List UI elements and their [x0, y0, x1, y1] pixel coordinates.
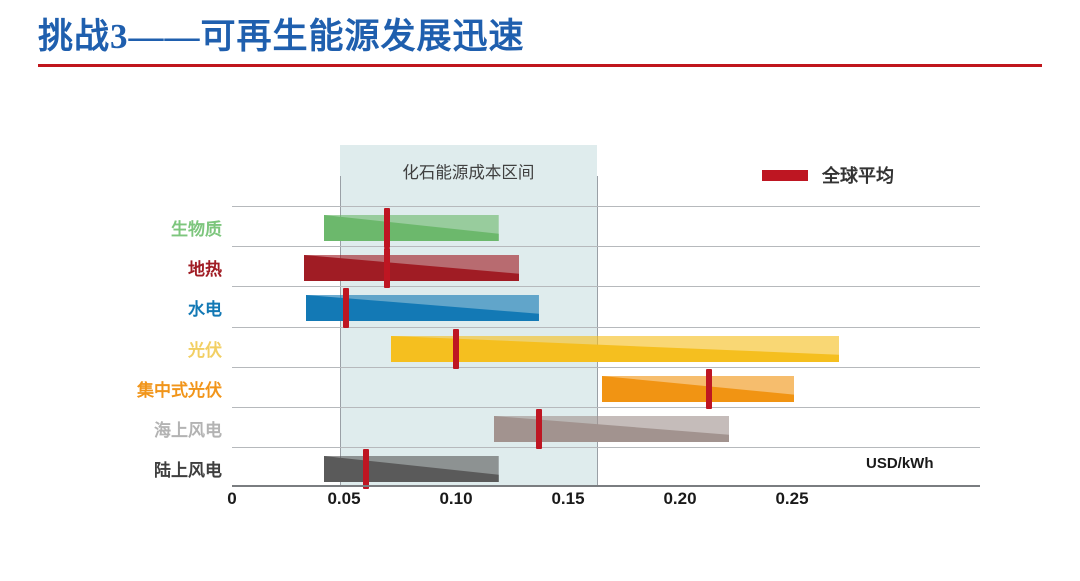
x-tick-label: 0.20 — [663, 489, 696, 509]
category-label: 海上风电 — [154, 416, 222, 441]
x-tick-label: 0.25 — [775, 489, 808, 509]
global-average-marker — [384, 248, 390, 288]
gridline — [232, 246, 980, 247]
renewable-cost-chart: 化石能源成本区间 全球平均 生物质地热水电光伏集中式光伏海上风电陆上风电 00.… — [0, 0, 1080, 581]
bar-gradient-shape — [494, 416, 729, 442]
cost-range-bar — [304, 255, 519, 281]
cost-range-bar — [306, 295, 539, 321]
gridline — [232, 367, 980, 368]
x-axis-unit-label: USD/kWh — [866, 455, 934, 472]
category-label: 水电 — [188, 295, 222, 320]
category-label: 生物质 — [171, 215, 222, 240]
bar-gradient-shape — [324, 215, 499, 241]
x-tick-label: 0.15 — [551, 489, 584, 509]
bar-gradient-shape — [602, 376, 795, 402]
chart-legend: 全球平均 — [762, 162, 894, 188]
cost-range-bar — [324, 215, 499, 241]
global-average-marker — [706, 369, 712, 409]
category-label: 光伏 — [188, 336, 222, 361]
x-tick-label: 0.05 — [327, 489, 360, 509]
gridline — [232, 407, 980, 408]
cost-range-bar — [602, 376, 795, 402]
global-average-marker — [536, 409, 542, 449]
gridline — [232, 206, 980, 207]
cost-range-bar — [494, 416, 729, 442]
global-average-marker — [363, 449, 369, 489]
bar-gradient-shape — [324, 456, 499, 482]
gridline — [232, 286, 980, 287]
category-label: 集中式光伏 — [137, 376, 222, 401]
global-average-marker — [453, 329, 459, 369]
gridline — [232, 447, 980, 448]
global-average-marker — [343, 288, 349, 328]
cost-range-bar — [324, 456, 499, 482]
category-label: 陆上风电 — [154, 456, 222, 481]
bar-gradient-shape — [306, 295, 539, 321]
bar-gradient-shape — [304, 255, 519, 281]
category-label: 地热 — [188, 255, 222, 280]
global-average-marker — [384, 208, 390, 248]
legend-swatch-global-average — [762, 170, 808, 181]
legend-label-global-average: 全球平均 — [822, 162, 894, 188]
category-labels: 生物质地热水电光伏集中式光伏海上风电陆上风电 — [110, 0, 222, 581]
x-tick-label: 0.10 — [439, 489, 472, 509]
x-axis-line — [232, 485, 980, 487]
fossil-band-label: 化石能源成本区间 — [402, 159, 534, 183]
x-tick-label: 0 — [227, 489, 236, 509]
